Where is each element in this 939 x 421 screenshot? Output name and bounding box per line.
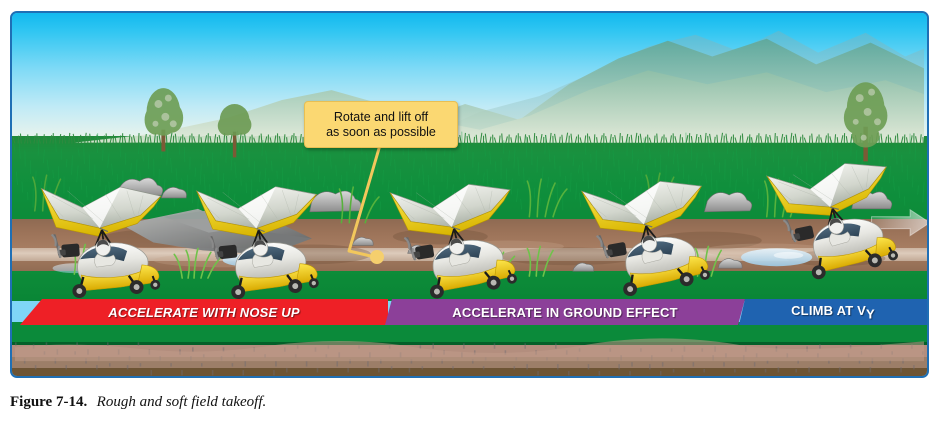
engine-propeller — [208, 234, 237, 260]
aircraft-trike-2 — [197, 179, 327, 303]
aircraft-trike-4 — [582, 171, 718, 302]
fuselage-pod — [233, 238, 318, 292]
aircraft-trike-5 — [767, 151, 906, 285]
figure-number: Figure 7-14. — [10, 394, 87, 410]
figure-caption: Figure 7-14. Rough and soft field takeof… — [10, 393, 266, 411]
callout-rotate-liftoff: Rotate and lift off as soon as possible — [304, 101, 458, 148]
engine-propeller — [404, 234, 434, 262]
callout-line-2: as soon as possible — [326, 125, 436, 139]
illustration-frame: Rotate and lift off as soon as possible … — [10, 11, 929, 378]
aircraft-trike-1 — [41, 180, 167, 300]
figure-caption-text: Rough and soft field takeoff. — [97, 394, 267, 410]
engine-propeller — [783, 215, 814, 244]
engine-propeller — [597, 231, 627, 259]
figure-page: Rotate and lift off as soon as possible … — [0, 0, 939, 421]
fuselage-pod — [76, 240, 160, 291]
engine-propeller — [52, 233, 80, 259]
aircraft-sequence — [12, 13, 927, 376]
fuselage-pod — [622, 230, 709, 289]
aircraft-trike-3 — [390, 174, 525, 303]
fuselage-pod — [430, 234, 517, 292]
fuselage-pod — [809, 211, 897, 273]
callout-line-1: Rotate and lift off — [334, 110, 428, 124]
